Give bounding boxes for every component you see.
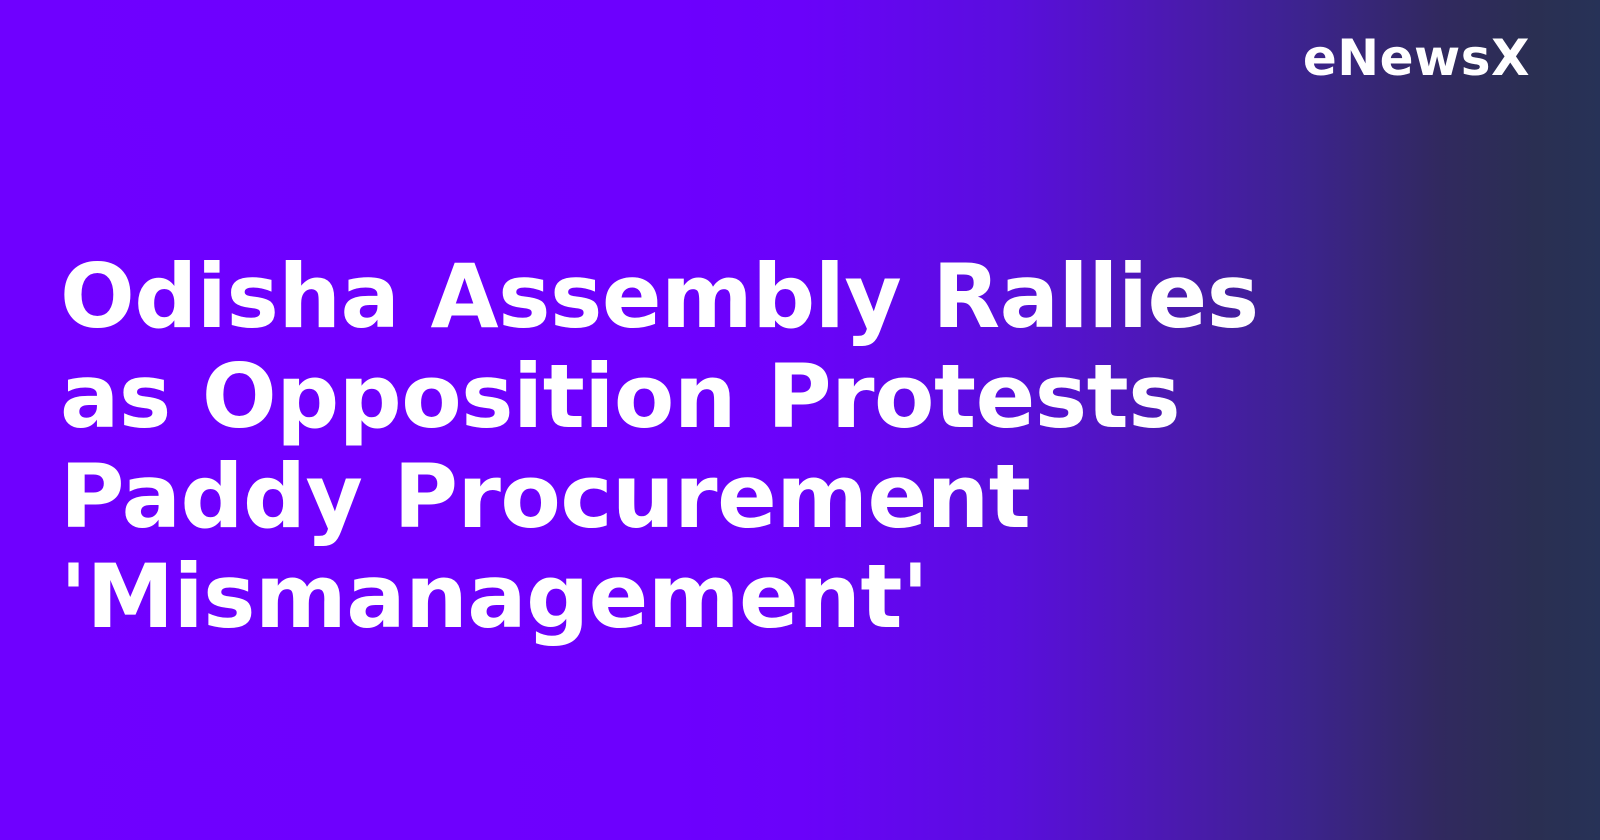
page-title: Odisha Assembly Rallies as Opposition Pr… xyxy=(60,247,1380,647)
news-headline-card: eNewsX Odisha Assembly Rallies as Opposi… xyxy=(0,0,1600,840)
headline-block: Odisha Assembly Rallies as Opposition Pr… xyxy=(60,247,1380,647)
brand-logo: eNewsX xyxy=(1303,31,1530,86)
